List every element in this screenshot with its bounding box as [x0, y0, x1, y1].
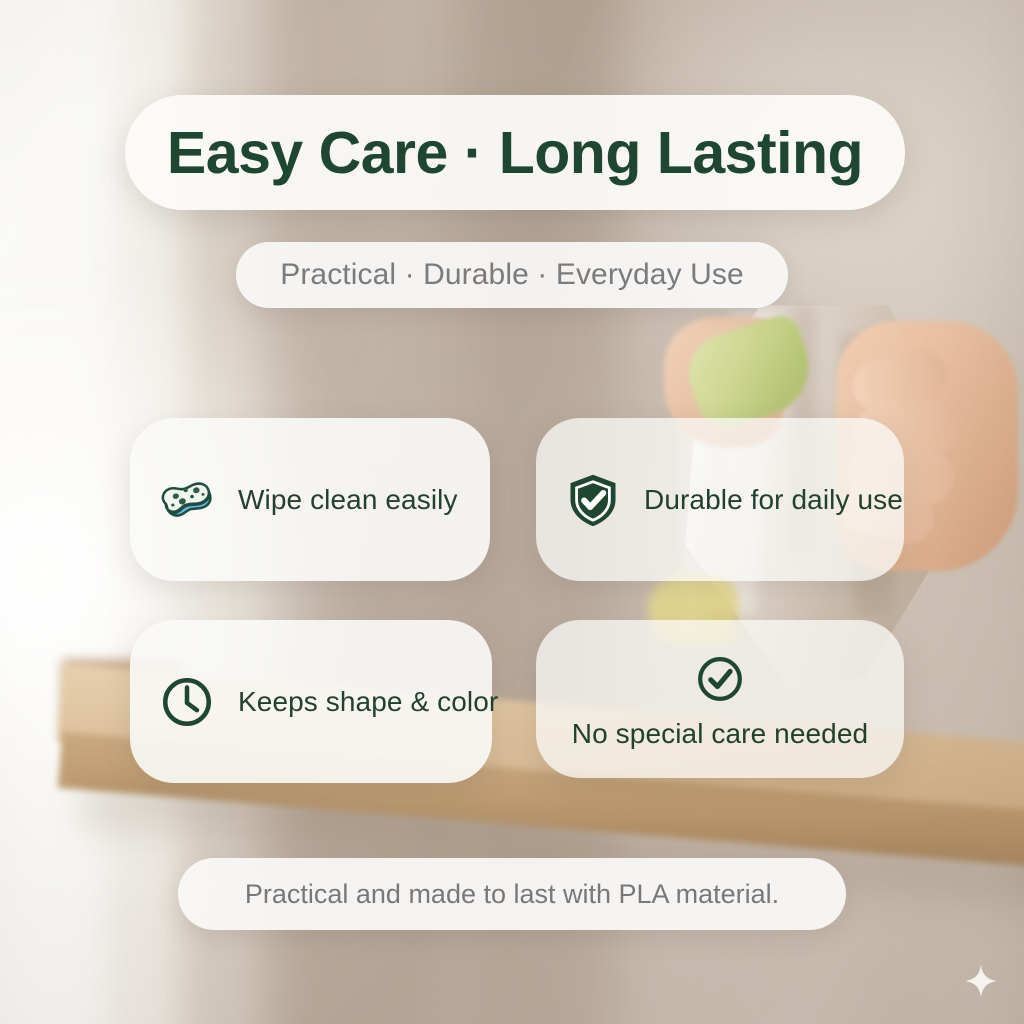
feature-card-keeps-shape[interactable]: Keeps shape & color	[130, 620, 492, 783]
footer-pill: Practical and made to last with PLA mate…	[178, 858, 846, 930]
feature-card-durable[interactable]: Durable for daily use	[536, 418, 904, 581]
sponge-icon	[156, 469, 218, 531]
shield-check-icon	[562, 469, 624, 531]
check-circle-icon	[689, 648, 751, 710]
overlay-content: Easy Care · Long Lasting Practical · Dur…	[0, 0, 1024, 1024]
infographic-canvas: Easy Care · Long Lasting Practical · Dur…	[0, 0, 1024, 1024]
feature-card-no-special-care[interactable]: No special care needed	[536, 620, 904, 778]
feature-label: Keeps shape & color	[238, 686, 498, 718]
sparkle-icon	[964, 964, 998, 998]
feature-label: Wipe clean easily	[238, 484, 458, 516]
feature-label: Durable for daily use	[644, 484, 903, 516]
feature-card-wipe-clean[interactable]: Wipe clean easily	[130, 418, 490, 581]
footer-text: Practical and made to last with PLA mate…	[245, 879, 779, 910]
feature-label: No special care needed	[572, 718, 868, 750]
clock-icon	[156, 671, 218, 733]
